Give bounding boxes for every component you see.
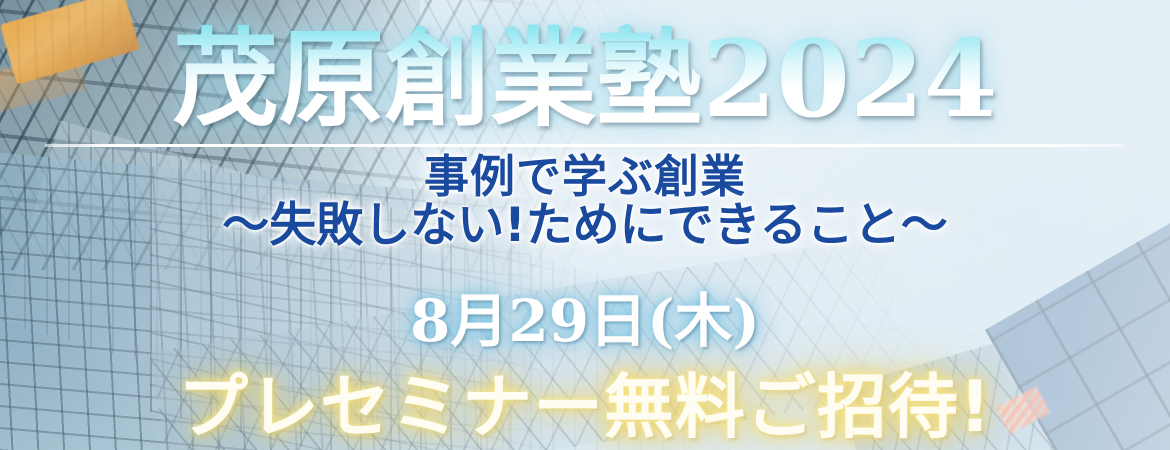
invitation-callout: プレセミナー無料ご招待! bbox=[0, 368, 1170, 446]
seminar-banner: 茂原創業塾2024 事例で学ぶ創業 〜失敗しない!ためにできること〜 8月29日… bbox=[0, 0, 1170, 450]
banner-text-layer: 茂原創業塾2024 事例で学ぶ創業 〜失敗しない!ためにできること〜 8月29日… bbox=[0, 0, 1170, 450]
divider-rule bbox=[45, 144, 1125, 147]
page-title: 茂原創業塾2024 bbox=[0, 20, 1170, 138]
subtitle-line-1: 事例で学ぶ創業 bbox=[0, 152, 1170, 202]
subtitle-line-2: 〜失敗しない!ためにできること〜 bbox=[0, 200, 1170, 252]
event-date: 8月29日(木) bbox=[0, 288, 1170, 354]
